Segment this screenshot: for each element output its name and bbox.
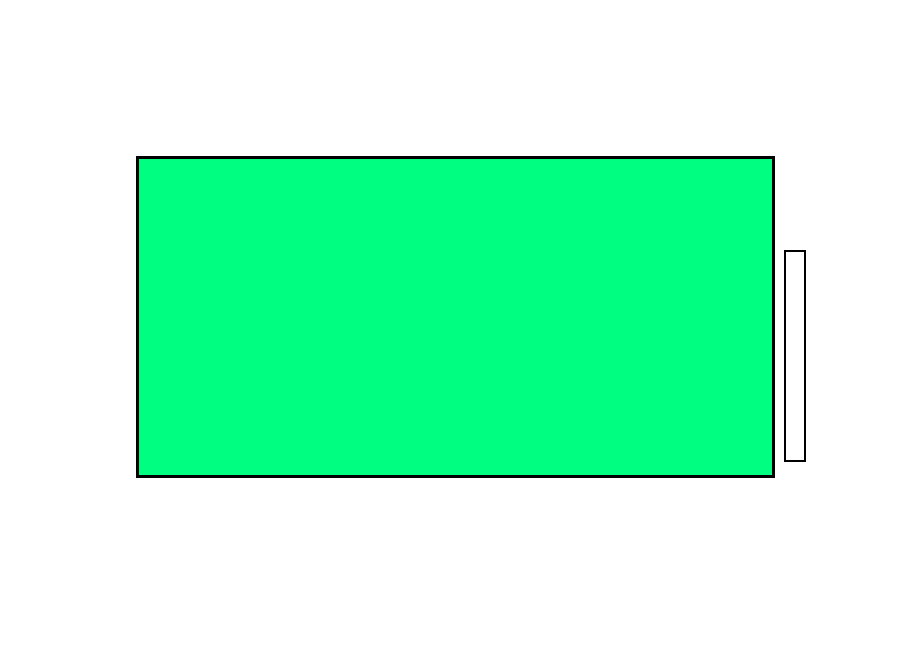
- colorbar-bands: [784, 250, 806, 462]
- colorbar: [784, 196, 806, 516]
- velocity-field-contours: [139, 159, 772, 475]
- contour-plot-area: [136, 156, 775, 478]
- figure-canvas: [0, 0, 904, 654]
